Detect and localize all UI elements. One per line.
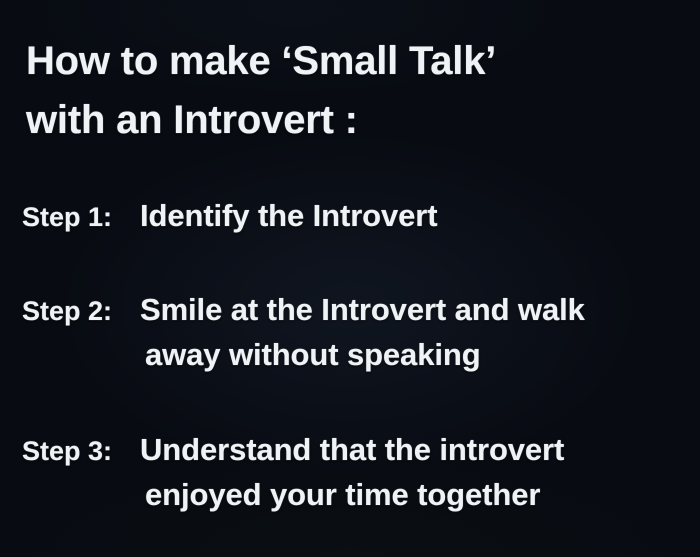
step-2-label: Step 2: — [0, 292, 140, 330]
step-3-line-2: enjoyed your time together — [140, 472, 700, 517]
step-3-row: Step 3: Understand that the introvert en… — [0, 427, 700, 517]
step-3-line-1: Understand that the introvert — [140, 427, 700, 472]
step-1-label: Step 1: — [0, 198, 140, 236]
step-1-body: Identify the Introvert — [140, 193, 700, 238]
step-2-line-1: Smile at the Introvert and walk — [140, 287, 700, 332]
list-item: Step 2: Smile at the Introvert and walk … — [0, 287, 700, 377]
step-3-body: Understand that the introvert enjoyed yo… — [140, 427, 700, 517]
step-1-line-1: Identify the Introvert — [140, 193, 700, 238]
step-1-row: Step 1: Identify the Introvert — [0, 193, 700, 238]
step-2-body: Smile at the Introvert and walk away wit… — [140, 287, 700, 377]
step-2-line-2: away without speaking — [140, 332, 700, 377]
page-title: How to make ‘Small Talk’ with an Introve… — [26, 32, 666, 150]
step-2-row: Step 2: Smile at the Introvert and walk … — [0, 287, 700, 377]
meme-image: How to make ‘Small Talk’ with an Introve… — [0, 0, 700, 557]
step-3-label: Step 3: — [0, 432, 140, 470]
meme-content: How to make ‘Small Talk’ with an Introve… — [0, 0, 700, 557]
list-item: Step 1: Identify the Introvert — [0, 193, 700, 238]
title-line-2: with an Introvert : — [26, 91, 666, 150]
list-item: Step 3: Understand that the introvert en… — [0, 427, 700, 517]
steps-list: Step 1: Identify the Introvert Step 2: S… — [0, 193, 700, 517]
title-line-1: How to make ‘Small Talk’ — [26, 32, 666, 91]
